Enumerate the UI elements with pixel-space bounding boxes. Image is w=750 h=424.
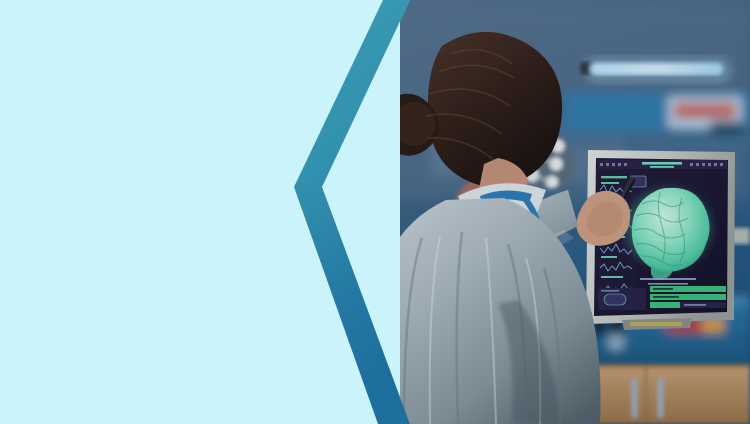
page-title: MINIMALLY INVASIVE BRAIN SURGERY (29, 104, 329, 209)
article-banner: MINIMALLY INVASIVE BRAIN SURGERY What to… (0, 0, 750, 424)
page-subtitle: What to Know Before Choosing Modern Neur… (28, 240, 318, 339)
text-panel: MINIMALLY INVASIVE BRAIN SURGERY What to… (0, 0, 400, 424)
title-divider-rule (28, 199, 297, 202)
